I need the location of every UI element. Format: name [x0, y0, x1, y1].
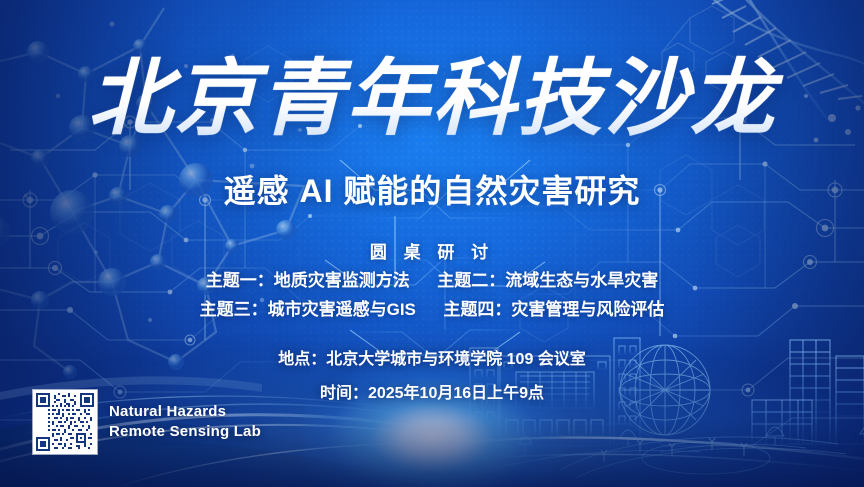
poster-canvas: 北京青年科技沙龙 遥感 AI 赋能的自然灾害研究 圆 桌 研 讨 主题一：地质灾… [0, 0, 864, 487]
lab-name-line2: Remote Sensing Lab [109, 422, 261, 442]
topic-item-3: 主题三：城市灾害遥感与GIS [200, 300, 416, 319]
topic-row-1: 主题一：地质灾害监测方法 主题二：流域生态与水旱灾害 [0, 266, 864, 291]
lab-name: Natural Hazards Remote Sensing Lab [109, 402, 261, 443]
topic-item-2: 主题二：流域生态与水旱灾害 [437, 271, 658, 290]
lab-name-line1: Natural Hazards [109, 402, 261, 422]
qr-code-image [36, 393, 94, 451]
event-location: 地点：北京大学城市与环境学院 109 会议室 [0, 345, 864, 369]
lab-branding: Natural Hazards Remote Sensing Lab [33, 390, 261, 454]
round-table-heading: 圆 桌 研 讨 [0, 238, 864, 263]
page-subtitle: 遥感 AI 赋能的自然灾害研究 [0, 166, 864, 212]
topic-item-1: 主题一：地质灾害监测方法 [206, 271, 410, 290]
page-title: 北京青年科技沙龙 [0, 56, 864, 140]
topic-row-2: 主题三：城市灾害遥感与GIS 主题四：灾害管理与风险评估 [0, 295, 864, 320]
qr-code[interactable] [33, 390, 97, 454]
topic-item-4: 主题四：灾害管理与风险评估 [443, 300, 664, 319]
